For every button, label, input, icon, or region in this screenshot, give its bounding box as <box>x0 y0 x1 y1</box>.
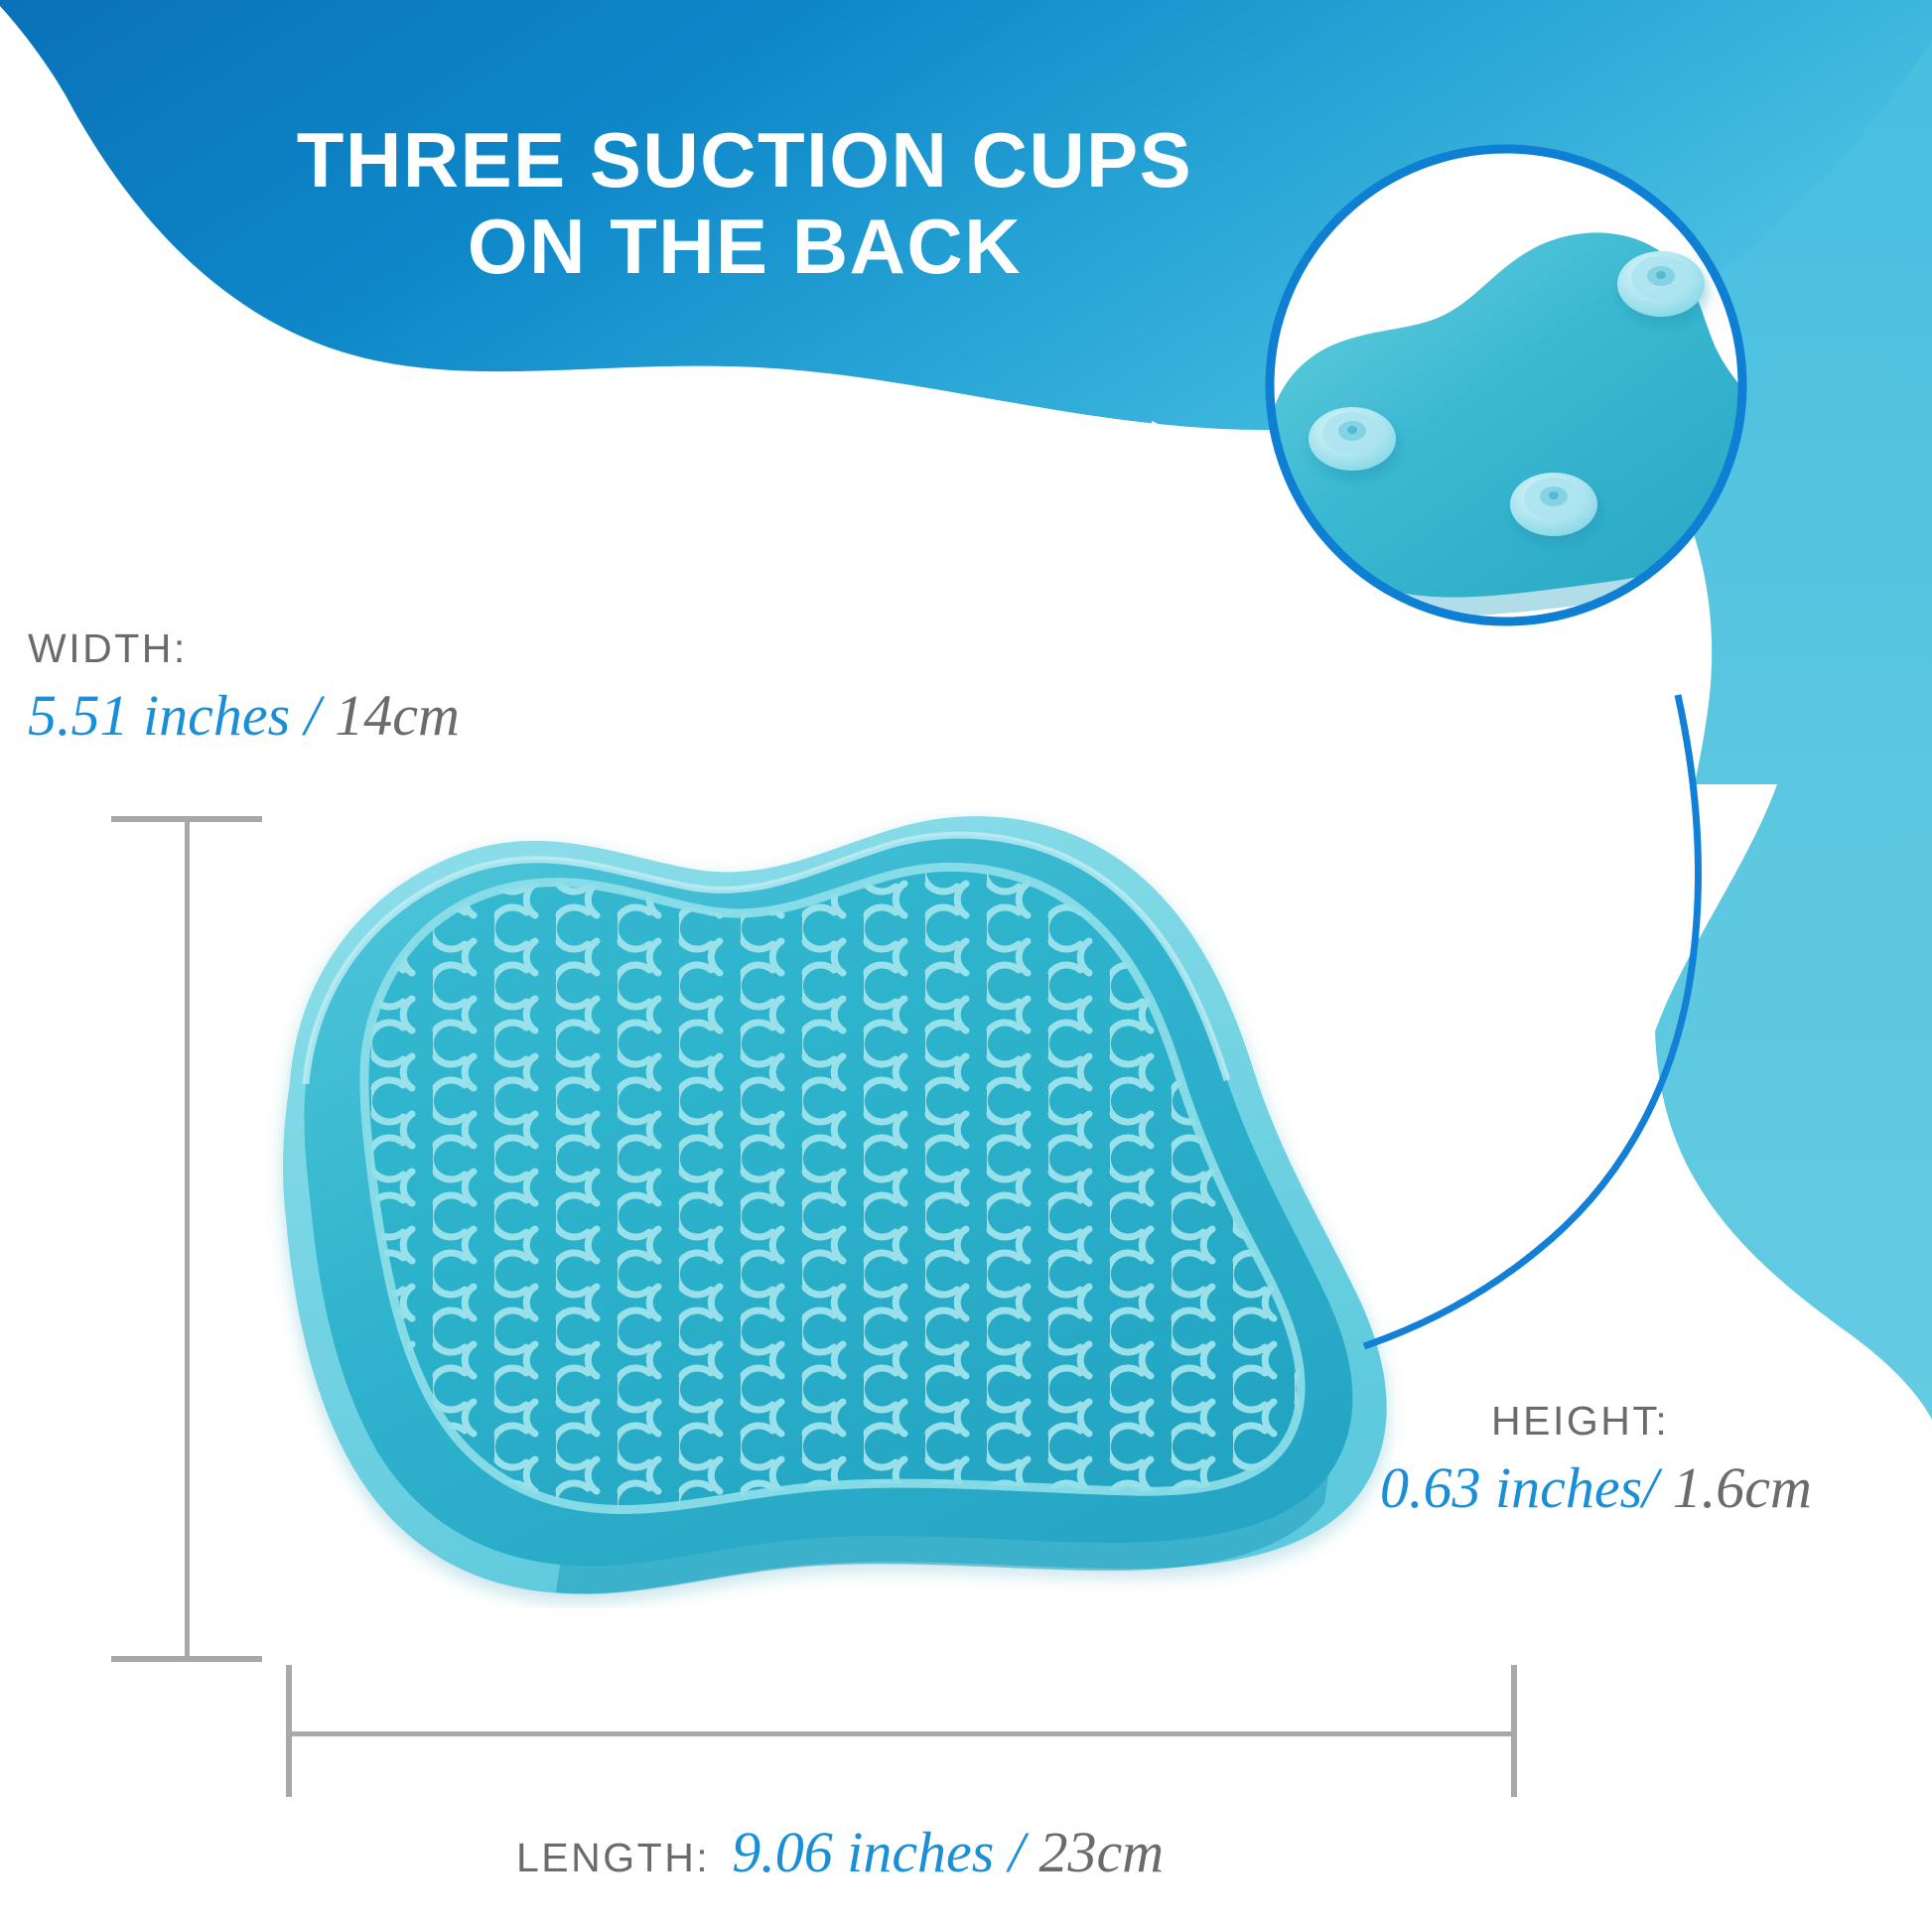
suction-cup-1 <box>1617 251 1705 317</box>
product-dimension-infographic: THREE SUCTION CUPS ON THE BACK <box>0 0 1932 1932</box>
width-value: 5.51 inches / 14cm <box>28 682 460 749</box>
height-dimension-label: HEIGHT: 0.63 inches/ 1.6cm <box>1380 1398 1812 1521</box>
suction-cup-2 <box>1309 407 1396 471</box>
height-caption: HEIGHT: <box>1491 1398 1812 1445</box>
height-value: 0.63 inches/ 1.6cm <box>1380 1454 1812 1521</box>
suction-cup-3 <box>1510 473 1597 536</box>
length-value-inches: 9.06 inches / <box>732 1820 1025 1884</box>
length-value-cm: 23cm <box>1039 1820 1165 1884</box>
length-caption: LENGTH: <box>516 1835 710 1881</box>
height-value-cm: 1.6cm <box>1673 1455 1812 1520</box>
length-value: 9.06 inches / 23cm <box>732 1819 1164 1885</box>
width-value-cm: 14cm <box>335 683 460 748</box>
width-caption: WIDTH: <box>28 625 460 672</box>
length-dimension-label: LENGTH: 9.06 inches / 23cm <box>516 1819 1164 1885</box>
height-value-inches: 0.63 inches/ <box>1380 1455 1658 1520</box>
width-value-inches: 5.51 inches / <box>28 683 321 748</box>
width-dimension-label: WIDTH: 5.51 inches / 14cm <box>28 625 460 749</box>
suction-cup-callout <box>1206 119 1822 735</box>
